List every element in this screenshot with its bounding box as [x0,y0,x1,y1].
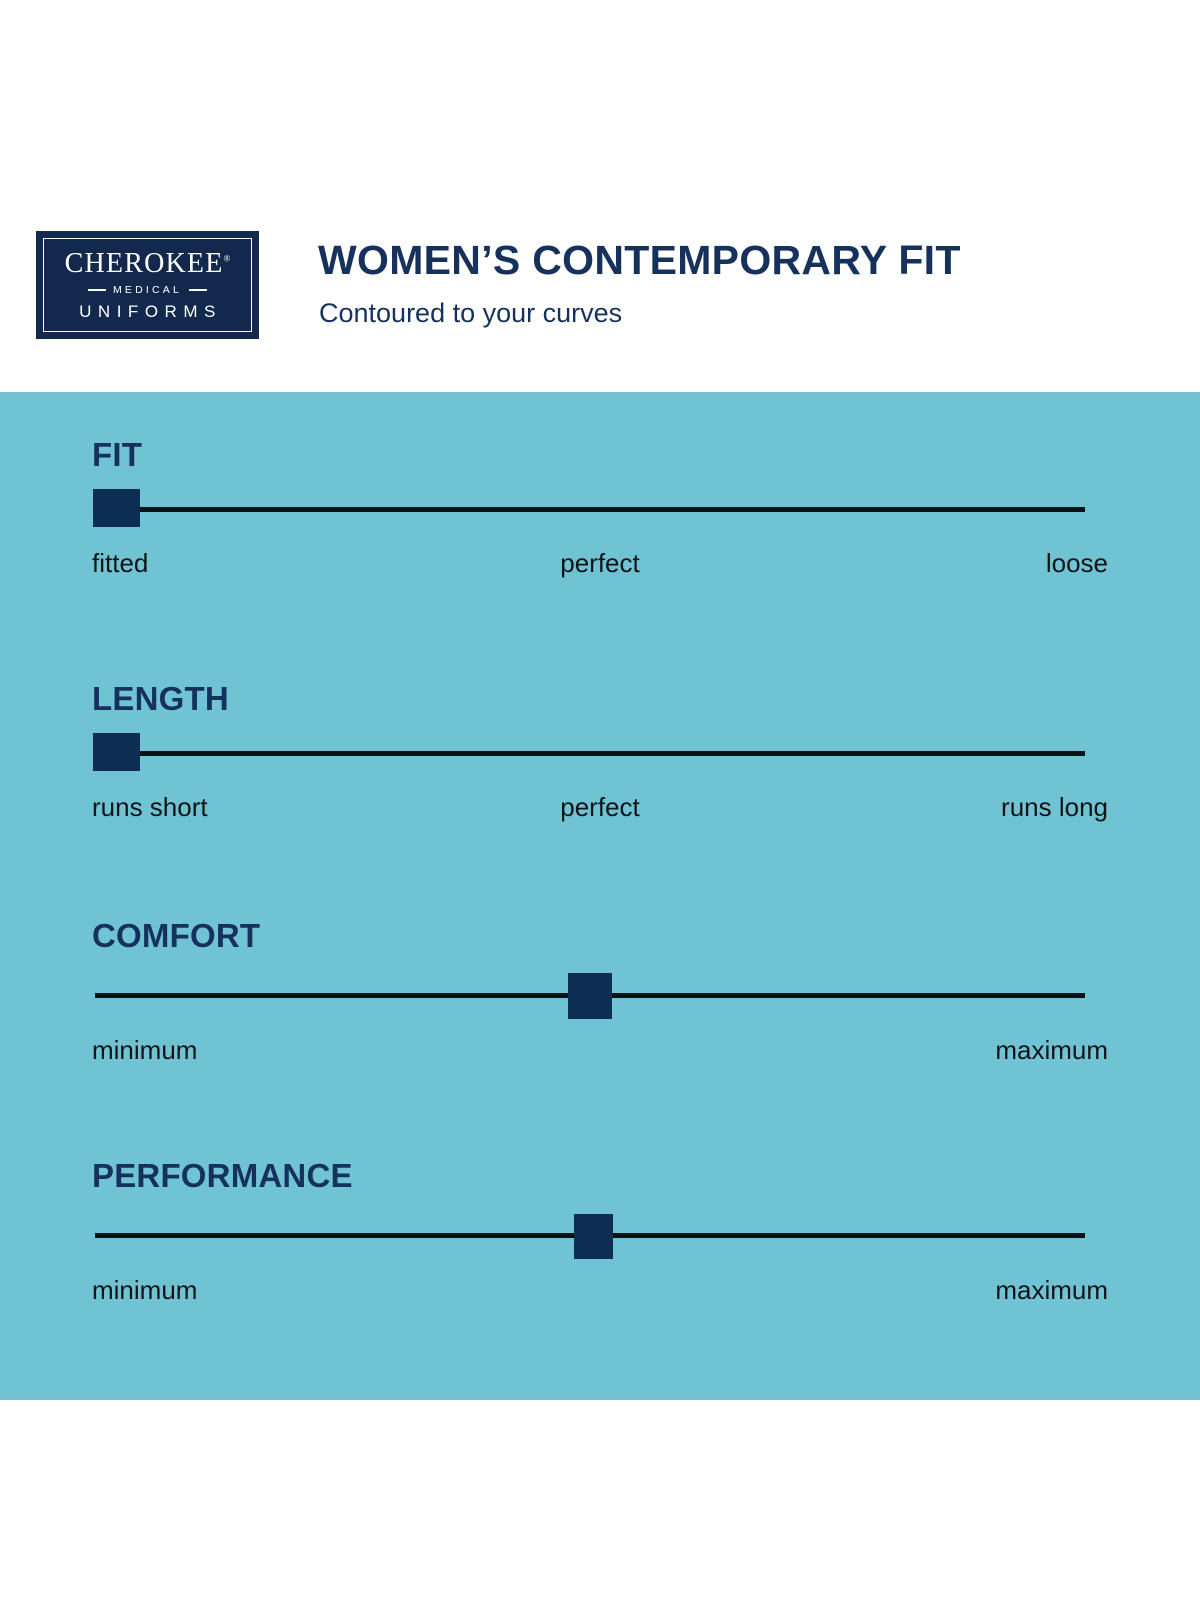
meter-length-title: LENGTH [92,682,229,715]
meter-fit-label-left: fitted [92,550,148,576]
meter-length-scale: runs short perfect runs long [0,794,1200,834]
meter-comfort-scale: minimum maximum [0,1037,1200,1077]
logo-rule-left-icon [88,289,106,291]
meter-length-label-left: runs short [92,794,208,820]
meter-performance-title: PERFORMANCE [92,1159,353,1192]
fit-meters-panel: FIT fitted perfect loose LENGTH runs sho… [0,392,1200,1400]
registered-trademark-icon: ® [224,253,231,263]
meter-fit-track[interactable] [140,507,1085,512]
meter-fit-label-right: loose [1046,550,1108,576]
page-footer-whitespace [0,1400,1200,1600]
meter-length-label-right: runs long [1001,794,1108,820]
meter-length-track[interactable] [140,751,1085,756]
page-title: WOMEN’S CONTEMPORARY FIT [318,240,961,281]
meter-length-slider[interactable] [0,729,1200,779]
meter-fit-knob[interactable] [93,489,140,527]
page-header: CHEROKEE® MEDICAL UNIFORMS WOMEN’S CONTE… [0,0,1200,392]
cherokee-medical-uniforms-logo: CHEROKEE® MEDICAL UNIFORMS [36,231,259,339]
meter-comfort-label-left: minimum [92,1037,197,1063]
meter-comfort-title: COMFORT [92,919,260,952]
logo-uniforms-text: UNIFORMS [79,303,222,320]
logo-inner-border: CHEROKEE® MEDICAL UNIFORMS [43,238,252,332]
meter-performance-knob[interactable] [574,1214,613,1259]
meter-comfort-label-right: maximum [995,1037,1108,1063]
page-subtitle: Contoured to your curves [319,300,622,327]
meter-comfort-knob[interactable] [568,973,612,1019]
meter-performance-slider[interactable] [0,1211,1200,1261]
meter-fit-slider[interactable] [0,485,1200,535]
logo-rule-right-icon [189,289,207,291]
logo-brand-text: CHEROKEE [65,248,224,279]
meter-performance-label-left: minimum [92,1277,197,1303]
meter-performance-scale: minimum maximum [0,1277,1200,1317]
meter-length-label-mid: perfect [560,794,640,820]
logo-medical-text: MEDICAL [113,285,182,296]
meter-comfort: COMFORT minimum maximum [0,880,1200,1100]
meter-comfort-slider[interactable] [0,971,1200,1021]
meter-length-knob[interactable] [93,733,140,771]
meter-fit-title: FIT [92,438,142,471]
logo-brand-name: CHEROKEE® [65,250,231,278]
meter-fit-label-mid: perfect [560,550,640,576]
meter-performance: PERFORMANCE minimum maximum [0,1120,1200,1340]
meter-fit-scale: fitted perfect loose [0,550,1200,590]
meter-length: LENGTH runs short perfect runs long [0,636,1200,856]
meter-fit: FIT fitted perfect loose [0,392,1200,612]
meter-performance-label-right: maximum [995,1277,1108,1303]
logo-medical-row: MEDICAL [88,285,207,296]
